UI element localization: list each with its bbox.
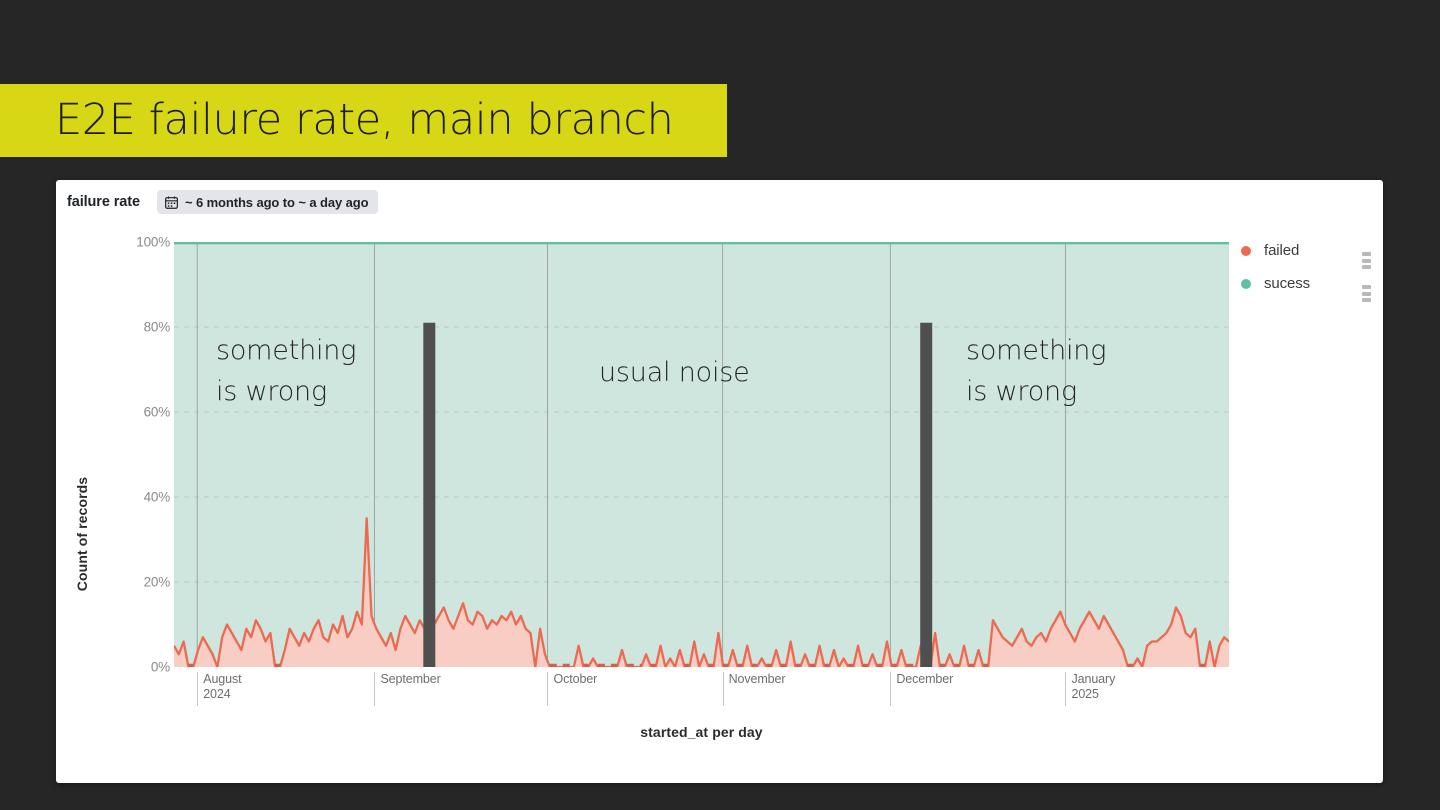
page-title: E2E failure rate, main branch [0,99,674,142]
x-tick-year: 2024 [203,687,241,702]
legend-color-dot [1241,279,1251,289]
marker-bar [423,323,435,667]
marker-bar [920,323,932,667]
y-tick-label: 40% [110,490,170,505]
x-tick-label: August2024 [197,672,241,706]
x-tick-label: January2025 [1065,672,1115,706]
drag-handle-icon[interactable] [1362,285,1371,302]
plot-area[interactable] [174,242,1229,667]
plot-svg [174,242,1229,667]
legend-item-sucess[interactable]: sucess [1241,267,1381,300]
x-tick-label: September [374,672,440,706]
chart-body: Count of records 0%20%40%60%80%100% [56,224,1383,783]
y-tick-label: 60% [110,405,170,420]
x-tick-label: November [723,672,786,706]
legend-item-failed[interactable]: failed [1241,234,1381,267]
legend-item-label: failed [1264,242,1299,259]
date-range-chip[interactable]: ~ 6 months ago to ~ a day ago [157,190,378,214]
y-tick-label: 80% [110,320,170,335]
y-axis-title: Count of records [74,477,90,591]
chart-card: failure rate ~ 6 months ago [56,180,1383,783]
x-axis-ticks: August2024SeptemberOctoberNovemberDecemb… [174,672,1229,720]
x-tick-label: October [547,672,597,706]
title-banner: E2E failure rate, main branch [0,84,727,157]
legend-item-label: sucess [1264,275,1310,292]
chart-legend: failed sucess [1241,234,1381,300]
metric-label: failure rate [67,194,140,210]
card-header: failure rate ~ 6 months ago [56,180,1383,224]
success-area [174,242,1229,667]
x-axis-title: started_at per day [174,724,1229,740]
legend-color-dot [1241,246,1251,256]
x-tick-label: December [890,672,953,706]
x-tick-year: 2025 [1071,687,1115,702]
y-axis-ticks: 0%20%40%60%80%100% [108,224,170,783]
y-tick-label: 100% [110,235,170,250]
slide-canvas: E2E failure rate, main branch failure ra… [0,0,1440,810]
y-tick-label: 20% [110,575,170,590]
date-range-text: ~ 6 months ago to ~ a day ago [185,195,368,210]
y-tick-label: 0% [110,660,170,675]
calendar-icon [165,196,178,209]
drag-handle-icon[interactable] [1362,252,1371,269]
